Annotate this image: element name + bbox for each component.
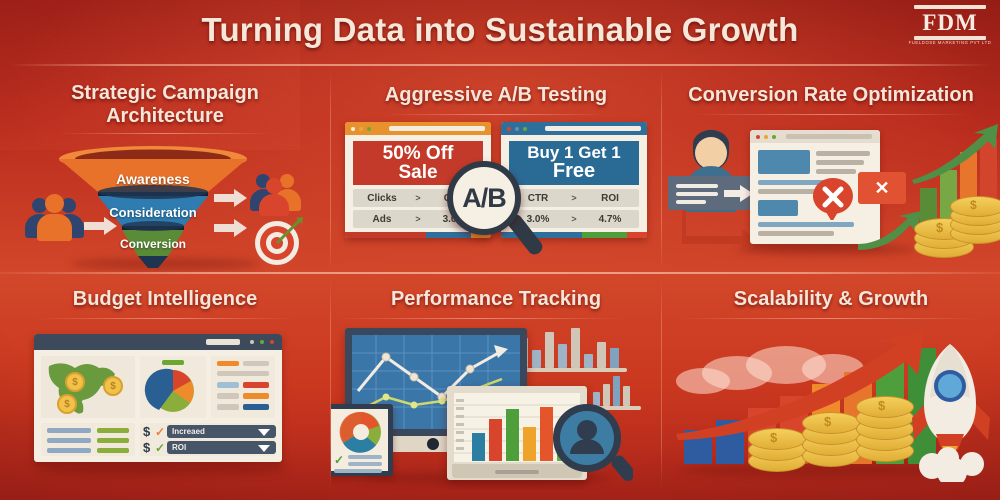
variant-b-promo-line2: Free xyxy=(553,161,595,181)
variant-a-promo-line1: 50% Off xyxy=(383,144,454,163)
ab-magnifier[interactable]: A/B xyxy=(447,161,521,235)
panel-title-underline xyxy=(38,318,292,319)
filters-tile: $ ✓ Increaed $ ✓ ROI xyxy=(140,423,275,456)
panel-title: Conversion Rate Optimization xyxy=(662,84,1000,107)
shelf-bar-6 xyxy=(584,354,593,368)
funnel-stage-awareness: Awareness xyxy=(58,168,248,190)
row-divider xyxy=(0,272,1000,274)
logo-tagline: FUELDOSE MARKETING PVT LTD xyxy=(900,39,999,46)
flow-arrow-lower-right xyxy=(214,218,248,238)
audience-magnifier-icon xyxy=(547,400,633,486)
funnel-illustration: Awareness Consideration Conversion xyxy=(0,130,330,272)
monitor-power-dot xyxy=(427,438,439,450)
shelf-bar-4 xyxy=(558,344,567,368)
budget-dashboard-illustration: $ $ $ xyxy=(0,324,330,490)
variant-a-promo-line2: Sale xyxy=(398,163,437,182)
rocket-icon xyxy=(908,342,1000,482)
shelf-bar-3 xyxy=(545,332,554,368)
panel-title-underline xyxy=(692,114,970,115)
variant-b-url-bar xyxy=(545,126,641,131)
variant-b-metric-row-2: 3.0% > 4.7% xyxy=(509,210,639,228)
panel-strategic-campaign-architecture: Strategic Campaign Architecture xyxy=(0,70,330,272)
panel-title-underline xyxy=(339,318,621,319)
panel-title-underline xyxy=(680,318,978,319)
dropdown-increased[interactable]: Increaed xyxy=(167,425,276,438)
summary-list-tile xyxy=(41,423,135,456)
target-icon xyxy=(252,216,304,266)
tablet-device[interactable]: ✓ xyxy=(331,404,393,476)
logo-wordmark: FDM xyxy=(908,11,992,35)
shelf-1 xyxy=(515,368,627,372)
scalability-illustration: $ $ $ xyxy=(662,324,1000,490)
infographic-canvas: Turning Data into Sustainable Growth FDM… xyxy=(0,0,1000,500)
panel-budget-intelligence: Budget Intelligence $ $ xyxy=(0,278,330,490)
chevron-down-icon xyxy=(258,429,270,436)
page-title: Turning Data into Sustainable Growth xyxy=(0,11,1000,49)
panel-conversion-rate-optimization: Conversion Rate Optimization xyxy=(662,70,1000,272)
pie-chart-tile xyxy=(140,356,206,418)
check-roi-icon: ✓ xyxy=(155,441,165,455)
variant-b-metric-row-1: CTR > ROI xyxy=(509,189,639,207)
donut-chart xyxy=(332,410,390,454)
performance-devices-illustration: ✓ xyxy=(331,324,661,490)
shelf-bar-7 xyxy=(597,342,606,368)
input-field-block[interactable] xyxy=(668,176,758,210)
reject-bubble-icon xyxy=(810,176,856,220)
check-increased-icon: ✓ xyxy=(155,425,165,439)
variant-b-promo: Buy 1 Get 1 Free xyxy=(509,141,639,185)
panel-title: Strategic Campaign Architecture xyxy=(0,82,330,128)
legend-tile xyxy=(211,356,275,418)
header: Turning Data into Sustainable Growth FDM… xyxy=(0,0,1000,68)
variant-a-url-bar xyxy=(389,126,485,131)
shelf-bar-5 xyxy=(571,328,580,368)
redirect-arrow-icon xyxy=(682,210,760,250)
cro-illustration: ✕ $ xyxy=(662,118,1000,272)
header-divider xyxy=(8,64,992,66)
check-icon: ✓ xyxy=(334,453,344,467)
logo-rule-top xyxy=(914,5,986,9)
panel-title: Performance Tracking xyxy=(331,288,661,311)
panel-title: Aggressive A/B Testing xyxy=(331,84,661,107)
chevron-down-icon xyxy=(258,445,270,452)
panel-title-underline xyxy=(386,114,606,115)
panel-performance-tracking: Performance Tracking xyxy=(331,278,661,490)
panel-scalability-growth: Scalability & Growth xyxy=(662,278,1000,490)
reject-badge: ✕ xyxy=(858,172,906,204)
shelf-bar-2 xyxy=(532,350,541,368)
panel-title: Scalability & Growth xyxy=(662,288,1000,311)
flow-arrow-upper-right xyxy=(214,188,248,208)
dashboard-titlebar xyxy=(34,334,282,350)
brand-logo[interactable]: FDM FUELDOSE MARKETING PVT LTD xyxy=(908,5,992,57)
map-tile: $ $ $ xyxy=(41,356,135,418)
shelf-bar-8 xyxy=(610,348,619,368)
panel-title: Budget Intelligence xyxy=(0,288,330,311)
growth-trend-arrow xyxy=(910,122,1000,184)
magnifier-label: A/B xyxy=(447,161,521,235)
variant-b-promo-line1: Buy 1 Get 1 xyxy=(527,144,621,161)
dropdown-roi[interactable]: ROI xyxy=(167,441,276,454)
budget-dashboard-window[interactable]: $ $ $ xyxy=(34,334,282,462)
